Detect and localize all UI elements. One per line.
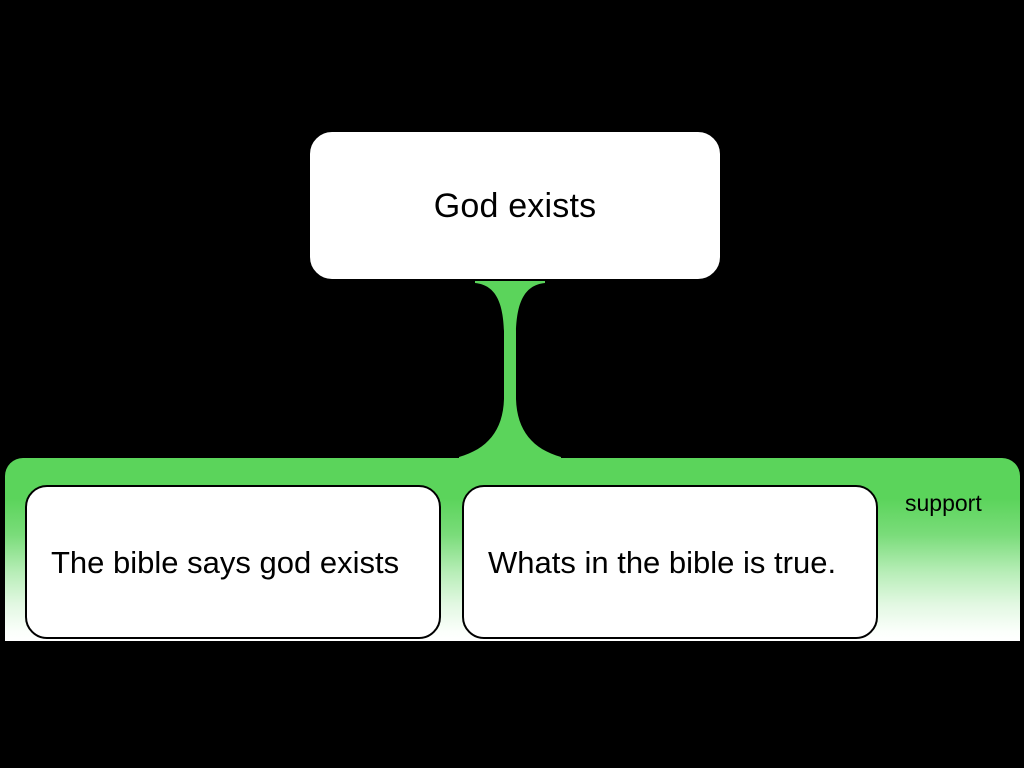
premise-node-1[interactable]: The bible says god exists: [25, 485, 441, 639]
support-relation-label: support: [905, 489, 1024, 517]
conclusion-text: God exists: [434, 186, 597, 226]
diagram-canvas: God exists The bible says god exists Wha…: [0, 0, 1024, 768]
support-connector[interactable]: [455, 279, 565, 461]
premise-text-1: The bible says god exists: [27, 540, 419, 585]
premise-node-2[interactable]: Whats in the bible is true.: [462, 485, 878, 639]
premise-text-2: Whats in the bible is true.: [464, 540, 856, 585]
conclusion-node[interactable]: God exists: [308, 130, 722, 281]
support-connector-shape: [455, 279, 565, 461]
